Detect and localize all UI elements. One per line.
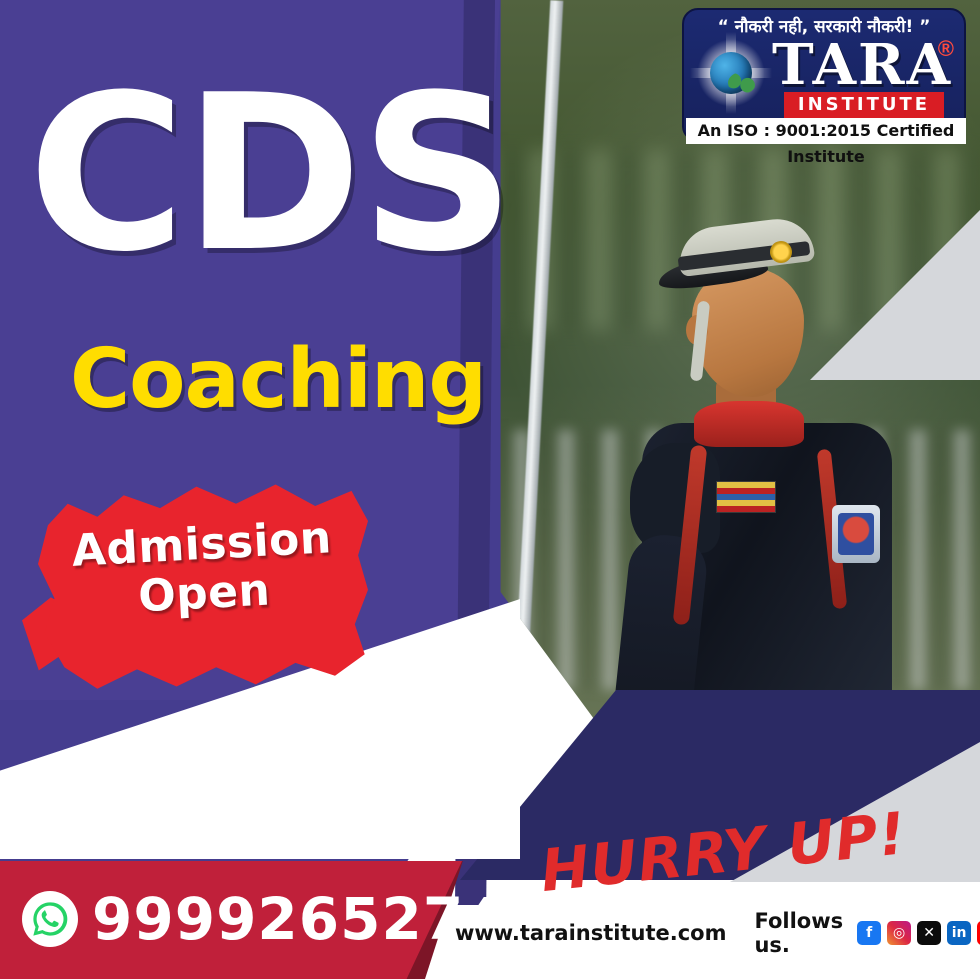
social-links: f ◎ ✕ in ▶ bbox=[857, 921, 980, 945]
poster-root: CDS Coaching Admission Open “ नौकरी नही,… bbox=[0, 0, 980, 979]
footer-bar: www.tarainstitute.com Follows us. f ◎ ✕ … bbox=[455, 909, 975, 957]
registered-trademark-icon: ® bbox=[938, 36, 954, 62]
page-title: CDS bbox=[28, 72, 468, 276]
page-subtitle: Coaching bbox=[70, 332, 486, 427]
website-link[interactable]: www.tarainstitute.com bbox=[455, 921, 726, 945]
globe-landmass bbox=[728, 72, 756, 94]
globe-icon bbox=[710, 52, 752, 94]
phone-number[interactable]: 9999265274 bbox=[92, 885, 506, 953]
logo-subbrand: INSTITUTE bbox=[784, 92, 944, 118]
globe-star-icon bbox=[698, 40, 764, 106]
follow-us-label: Follows us. bbox=[754, 909, 843, 957]
linkedin-icon[interactable]: in bbox=[947, 921, 971, 945]
instagram-icon[interactable]: ◎ bbox=[887, 921, 911, 945]
facebook-icon[interactable]: f bbox=[857, 921, 881, 945]
x-twitter-icon[interactable]: ✕ bbox=[917, 921, 941, 945]
admission-open-text: Admission Open bbox=[36, 511, 371, 627]
logo-brand-name: TARA bbox=[772, 32, 952, 98]
iso-certification-bar: An ISO : 9001:2015 Certified Institute bbox=[686, 118, 966, 144]
whatsapp-icon[interactable] bbox=[22, 891, 78, 947]
admission-open-badge: Admission Open bbox=[38, 478, 368, 693]
